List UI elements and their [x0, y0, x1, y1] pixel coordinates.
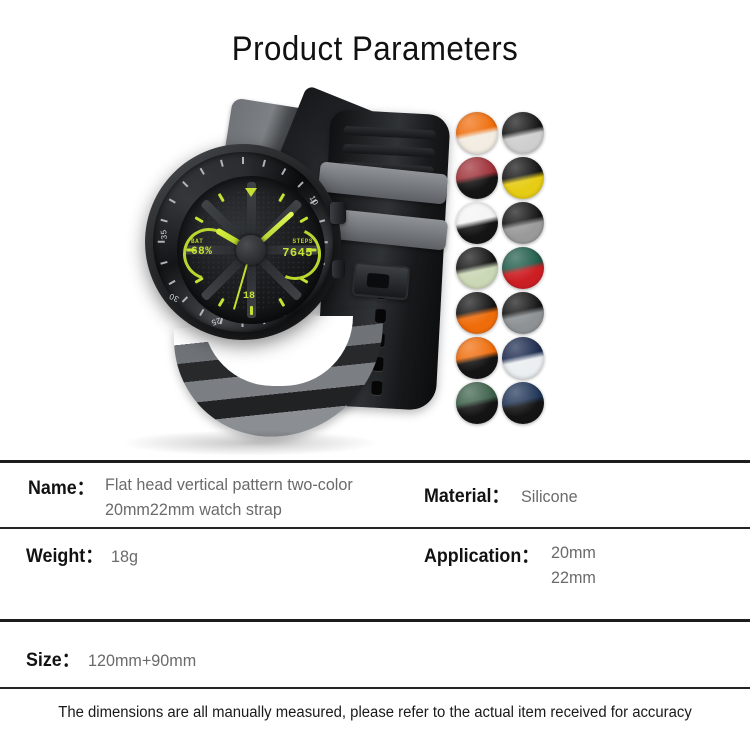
- swatch-gloss: [456, 382, 498, 424]
- watch-assembly: 10 15 20 25 30 35: [135, 110, 465, 440]
- swatch-gloss: [456, 247, 498, 289]
- dial-battery-complication: BAT 68%: [191, 238, 212, 258]
- product-hero-image: 10 15 20 25 30 35: [0, 100, 750, 450]
- dial-steps-complication: STEPS 7645: [282, 238, 313, 260]
- spec-row-size: Size： 120mm+90mm: [26, 645, 202, 674]
- product-parameters-page: Product Parameters: [0, 0, 750, 750]
- color-swatch-grid: [456, 112, 548, 427]
- swatch-gloss: [502, 337, 544, 379]
- spec-row-weight: Weight： 18g: [26, 541, 139, 570]
- spec-label-name: Name：: [28, 473, 95, 500]
- watch-case: 10 15 20 25 30 35: [145, 144, 341, 340]
- dial-twelve-marker: [245, 188, 257, 197]
- color-swatch-black-silver[interactable]: [502, 112, 544, 154]
- color-swatch-darkred-black[interactable]: [456, 157, 498, 199]
- product-shadow: [120, 430, 380, 456]
- spec-label-application: Application：: [424, 541, 539, 568]
- divider-4: [0, 687, 750, 689]
- swatch-gloss: [502, 202, 544, 244]
- swatch-gloss: [456, 157, 498, 199]
- divider-1: [0, 460, 750, 463]
- spec-value-application: 20mm 22mm: [551, 541, 596, 590]
- bezel-number-35: 35: [159, 229, 169, 240]
- spec-value-weight: 18g: [111, 545, 138, 570]
- spec-label-weight: Weight：: [26, 541, 103, 568]
- swatch-gloss: [502, 247, 544, 289]
- steps-value: 7645: [282, 246, 313, 260]
- watch-bezel: 10 15 20 25 30 35: [153, 152, 333, 332]
- watch-crown-lower: [332, 260, 345, 278]
- color-swatch-black-orange[interactable]: [456, 292, 498, 334]
- color-swatch-green-red[interactable]: [502, 247, 544, 289]
- strap-buckle: [352, 262, 411, 301]
- disclaimer-text: The dimensions are all manually measured…: [15, 704, 735, 722]
- swatch-gloss: [456, 337, 498, 379]
- color-swatch-black-yellow[interactable]: [502, 157, 544, 199]
- spec-row-material: Material： Silicone: [424, 481, 580, 510]
- color-swatch-black-gray2[interactable]: [502, 292, 544, 334]
- watch-dial: BAT 68% STEPS 7645 18: [177, 176, 325, 324]
- color-swatch-white-black[interactable]: [456, 202, 498, 244]
- color-swatch-orange-white[interactable]: [456, 112, 498, 154]
- dial-date-value: 18: [243, 291, 255, 302]
- color-swatch-navy-black[interactable]: [502, 382, 544, 424]
- color-swatch-black-gray[interactable]: [502, 202, 544, 244]
- spec-row-name: Name： Flat head vertical pattern two-col…: [28, 473, 405, 522]
- color-swatch-darkgreen-black[interactable]: [456, 382, 498, 424]
- swatch-gloss: [502, 292, 544, 334]
- divider-3: [0, 619, 750, 622]
- spec-label-material: Material：: [424, 481, 509, 508]
- battery-icon: BAT: [191, 238, 212, 245]
- steps-icon: STEPS: [282, 238, 313, 245]
- spec-value-material: Silicone: [521, 485, 578, 510]
- spec-value-name: Flat head vertical pattern two-color 20m…: [105, 473, 390, 522]
- spec-label-size: Size：: [26, 645, 80, 672]
- swatch-gloss: [502, 157, 544, 199]
- color-swatch-black-sage[interactable]: [456, 247, 498, 289]
- swatch-gloss: [456, 202, 498, 244]
- swatch-gloss: [502, 112, 544, 154]
- page-title: Product Parameters: [30, 30, 720, 69]
- swatch-gloss: [502, 382, 544, 424]
- dial-center-hub: [236, 235, 266, 265]
- color-swatch-orange-black[interactable]: [456, 337, 498, 379]
- color-swatch-navy-white[interactable]: [502, 337, 544, 379]
- battery-value: 68%: [191, 246, 212, 258]
- swatch-gloss: [456, 112, 498, 154]
- spec-row-application: Application： 20mm 22mm: [424, 541, 599, 590]
- spec-value-size: 120mm+90mm: [88, 649, 196, 674]
- swatch-gloss: [456, 292, 498, 334]
- divider-2: [0, 527, 750, 529]
